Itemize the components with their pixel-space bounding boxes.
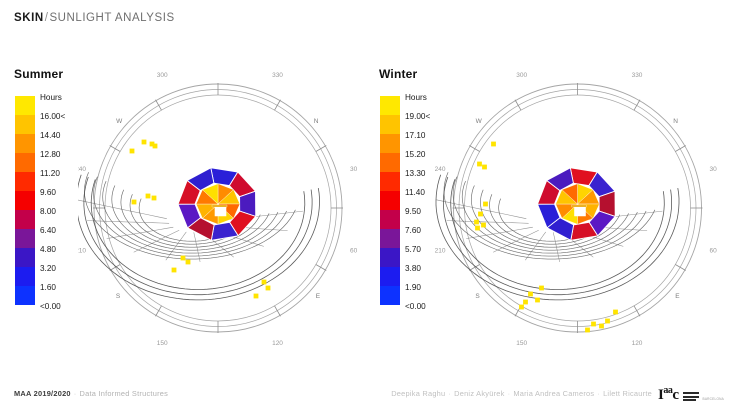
iaac-logo-bars <box>683 392 699 403</box>
page-title-bold: SKIN <box>14 12 44 24</box>
colorbar-tick-label: 11.40 <box>405 183 430 202</box>
footer-separator: · <box>71 389 80 398</box>
footer-author-separator: · <box>445 389 454 398</box>
colorbar-tick-label: 3.20 <box>40 259 65 278</box>
compass-deg-30: 30 <box>710 166 718 173</box>
compass-label-s: S <box>475 293 480 300</box>
colorbar-winter <box>380 96 400 305</box>
compass-deg-30: 30 <box>350 166 358 173</box>
colorbar-band <box>380 134 400 153</box>
faceted-model <box>538 168 616 241</box>
footer-course-label: MAA 2019/2020 <box>14 389 71 398</box>
footer-author-name: Deepika Raghu <box>391 389 445 398</box>
footer-author-name: Deniz Akyürek <box>454 389 505 398</box>
compass-label-w: W <box>116 118 123 125</box>
colorbar-unit-label: Hours <box>405 88 430 107</box>
iaac-logo-bar <box>683 396 699 398</box>
colorbar-band <box>15 191 35 210</box>
colorbar-unit-label: Hours <box>40 88 65 107</box>
compass-deg-300: 300 <box>157 72 168 79</box>
colorbar-band <box>15 286 35 305</box>
colorbar-summer <box>15 96 35 305</box>
colorbar-band <box>15 134 35 153</box>
compass-label-n: N <box>673 118 678 125</box>
colorbar-labels-summer: Hours16.00<14.4012.8011.209.608.006.404.… <box>40 88 65 316</box>
colorbar-band <box>15 229 35 248</box>
footer-author-separator: · <box>594 389 603 398</box>
colorbar-band <box>380 115 400 134</box>
compass-deg-330: 330 <box>632 72 643 79</box>
compass-deg-150: 150 <box>516 340 527 347</box>
compass-deg-240: 240 <box>78 166 86 173</box>
colorbar-band <box>380 286 400 305</box>
colorbar-band <box>15 153 35 172</box>
colorbar-band <box>380 153 400 172</box>
colorbar-band <box>380 191 400 210</box>
panel-summer: Summer Hours16.00<14.4012.8011.209.608.0… <box>0 58 365 358</box>
colorbar-band <box>380 172 400 191</box>
colorbar-tick-label: <0.00 <box>405 297 430 316</box>
colorbar-tick-label: 3.80 <box>405 259 430 278</box>
iaac-logo-bar <box>683 399 696 401</box>
colorbar-tick-label: 19.00< <box>405 107 430 126</box>
colorbar-band <box>15 115 35 134</box>
footer-studio-label: Data Informed Structures <box>80 389 169 398</box>
compass-deg-300: 300 <box>516 72 527 79</box>
colorbar-band <box>15 96 35 115</box>
compass-deg-120: 120 <box>272 340 283 347</box>
colorbar-band <box>15 172 35 191</box>
slide: SKIN/SUNLIGHT ANALYSIS Summer Hours16.00… <box>0 0 730 411</box>
iaac-logo-subtext: BARCELONA <box>703 397 724 403</box>
colorbar-tick-label: 1.60 <box>40 278 65 297</box>
colorbar-tick-label: 5.70 <box>405 240 430 259</box>
colorbar-tick-label: 16.00< <box>40 107 65 126</box>
colorbar-tick-label: 14.40 <box>40 126 65 145</box>
compass-deg-240: 240 <box>435 166 446 173</box>
footer-authors: Deepika Raghu·Deniz Akyürek·Maria Andrea… <box>391 389 652 398</box>
iaac-logo: Iaac BARCELONA <box>658 386 724 403</box>
colorbar-tick-label: 15.20 <box>405 145 430 164</box>
colorbar-tick-label: <0.00 <box>40 297 65 316</box>
colorbar-band <box>15 267 35 286</box>
iaac-logo-bar <box>683 392 699 394</box>
compass-label-w: W <box>476 118 483 125</box>
colorbar-band <box>380 248 400 267</box>
compass-deg-60: 60 <box>350 248 358 255</box>
compass-deg-120: 120 <box>632 340 643 347</box>
footer: MAA 2019/2020·Data Informed Structures D… <box>0 371 730 411</box>
compass-label-n: N <box>314 118 319 125</box>
page-title: SKIN/SUNLIGHT ANALYSIS <box>14 12 175 24</box>
colorbar-band <box>15 210 35 229</box>
iaac-logo-aa: aa <box>663 385 672 396</box>
compass-label-e: E <box>316 293 321 300</box>
compass-label-s: S <box>116 293 121 300</box>
colorbar-tick-label: 11.20 <box>40 164 65 183</box>
panel-title-summer: Summer <box>14 67 63 81</box>
footer-course: MAA 2019/2020·Data Informed Structures <box>14 389 168 398</box>
colorbar-tick-label: 9.50 <box>405 202 430 221</box>
panel-winter: Winter Hours19.00<17.1015.2013.3011.409.… <box>365 58 730 358</box>
iaac-logo-c: c <box>672 387 678 403</box>
compass-deg-60: 60 <box>710 248 718 255</box>
compass-deg-330: 330 <box>272 72 283 79</box>
compass-deg-210: 210 <box>435 248 446 255</box>
colorbar-tick-label: 12.80 <box>40 145 65 164</box>
footer-author-name: Lilett Ricaurte <box>603 389 652 398</box>
colorbar-tick-label: 9.60 <box>40 183 65 202</box>
panel-title-winter: Winter <box>379 67 417 81</box>
colorbar-labels-winter: Hours19.00<17.1015.2013.3011.409.507.605… <box>405 88 430 316</box>
sunpath-dome-summer: NESW3060120150210240300330 <box>78 60 358 358</box>
colorbar-tick-label: 13.30 <box>405 164 430 183</box>
colorbar-tick-label: 7.60 <box>405 221 430 240</box>
page-title-rest: SUNLIGHT ANALYSIS <box>49 12 174 24</box>
colorbar-tick-label: 8.00 <box>40 202 65 221</box>
colorbar-tick-label: 17.10 <box>405 126 430 145</box>
colorbar-tick-label: 1.90 <box>405 278 430 297</box>
colorbar-band <box>380 229 400 248</box>
colorbar-band <box>15 248 35 267</box>
colorbar-band <box>380 96 400 115</box>
footer-author-name: Maria Andrea Cameros <box>513 389 594 398</box>
colorbar-band <box>380 210 400 229</box>
colorbar-band <box>380 267 400 286</box>
compass-deg-150: 150 <box>157 340 168 347</box>
compass-deg-210: 210 <box>78 248 86 255</box>
colorbar-tick-label: 4.80 <box>40 240 65 259</box>
colorbar-tick-label: 6.40 <box>40 221 65 240</box>
iaac-logo-mark: Iaac <box>658 386 679 403</box>
compass-label-e: E <box>675 293 680 300</box>
sunpath-dome-winter: NESW3060120150210240300330 <box>435 60 720 358</box>
faceted-model <box>178 168 256 241</box>
